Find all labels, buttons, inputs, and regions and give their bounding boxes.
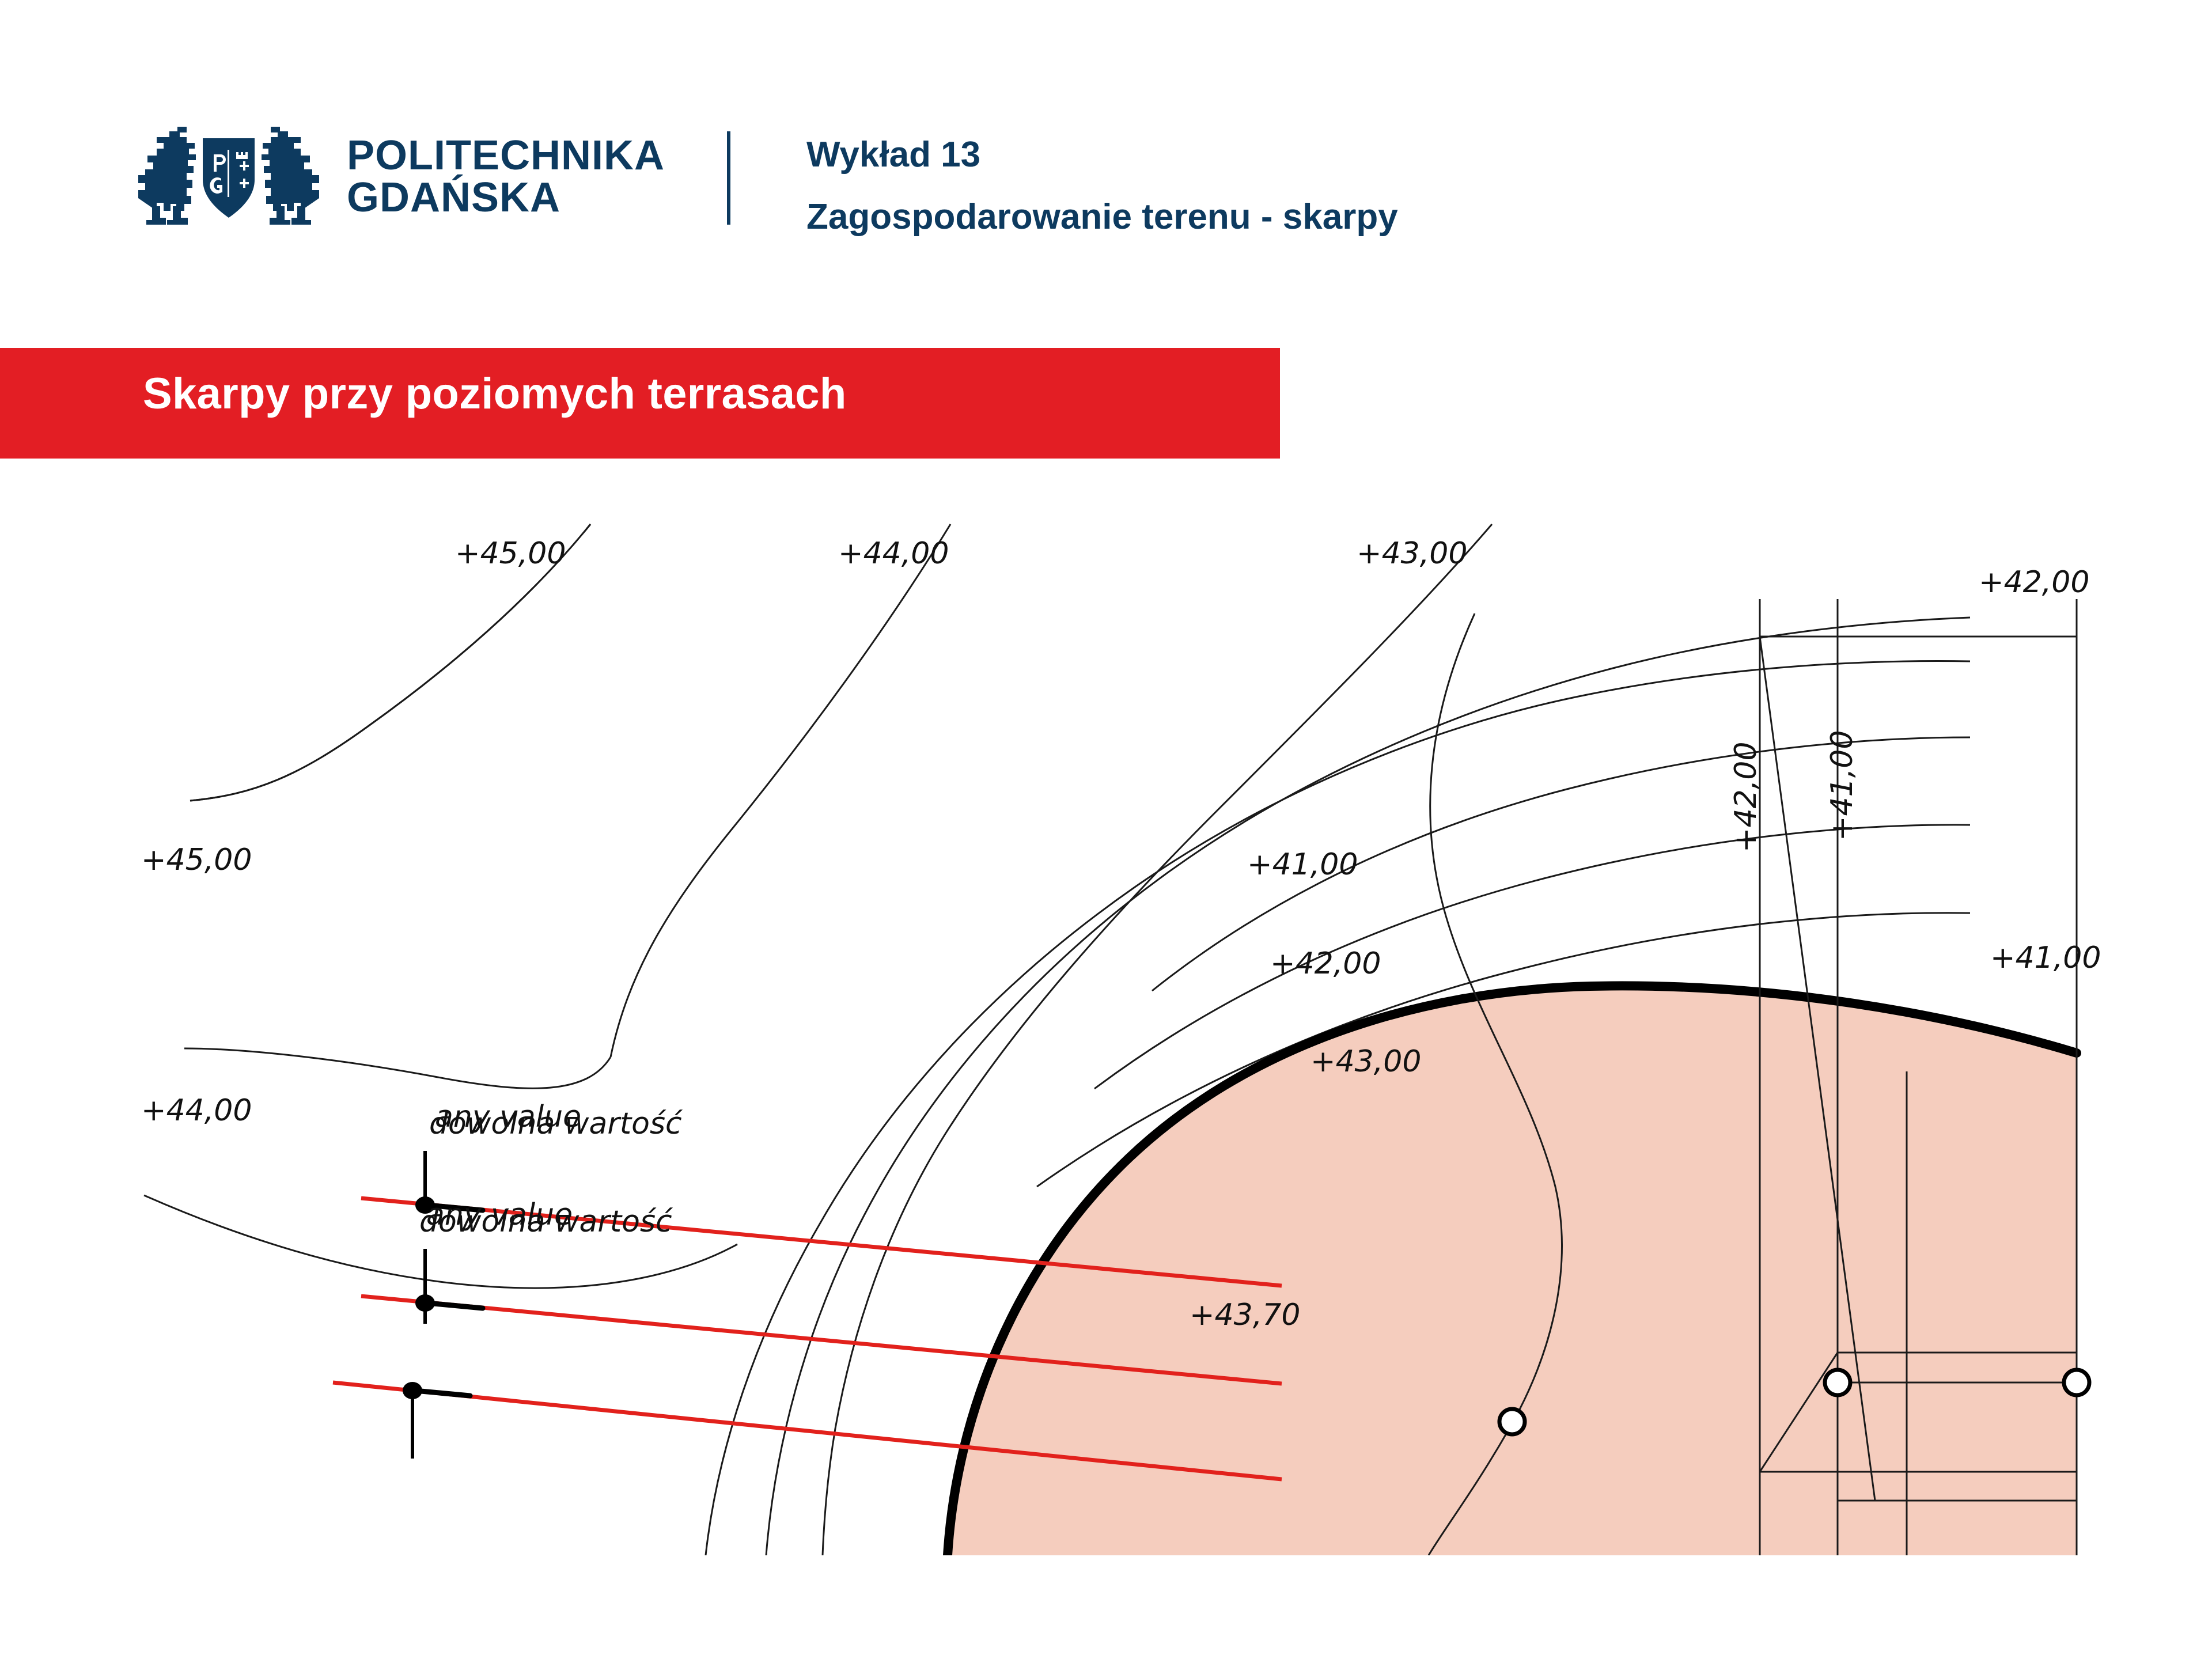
terrace-marker-tail-3 (415, 1391, 470, 1396)
university-logo: POLITECHNIKA GDAŃSKA (134, 122, 665, 232)
contour-curve-44-left (184, 1048, 611, 1088)
lecture-number: Wykład 13 (806, 137, 1398, 173)
university-wordmark: POLITECHNIKA GDAŃSKA (347, 135, 665, 219)
contour-label-43-mid: +43,00 (1310, 1044, 1421, 1079)
header-text-block: Wykład 13 Zagospodarowanie terenu - skar… (806, 137, 1398, 235)
contour-curve-44-top (611, 524, 950, 1057)
section-banner: Skarpy przy poziomych terrasach (0, 348, 1280, 459)
page-header: POLITECHNIKA GDAŃSKA Wykład 13 Zagospoda… (0, 0, 2212, 346)
contour-label-42-rotated: +42,00 (1729, 742, 1763, 853)
contour-label-4370: +43,70 (1190, 1298, 1300, 1332)
node-marker-left (1825, 1370, 1850, 1395)
contour-label-41-right: +41,00 (1990, 941, 2101, 975)
contour-label-44-top: +44,00 (838, 536, 949, 571)
node-marker-center (1499, 1409, 1525, 1434)
annotation-translated-2: any value (426, 1198, 573, 1232)
section-title: Skarpy przy poziomych terrasach (143, 369, 847, 419)
contour-label-45-top: +45,00 (455, 536, 566, 571)
terrain-slope-diagram: +45,00 +44,00 +43,00 +45,00 +41,00 +42,0… (0, 495, 2212, 1555)
contour-label-43-top: +43,00 (1357, 536, 1467, 571)
contour-label-42-right: +42,00 (1979, 565, 2089, 600)
wordmark-line-2: GDAŃSKA (347, 177, 665, 219)
terrace-point-3 (403, 1382, 422, 1399)
contour-label-45-left: +45,00 (141, 843, 252, 877)
contour-label-41-rotated: +41,00 (1825, 730, 1859, 841)
header-divider (727, 131, 730, 225)
annotation-any-value-2: dowolna wartość any value (419, 1198, 673, 1239)
terrace-marker-tail-2 (427, 1303, 483, 1308)
pg-coat-of-arms-logo (134, 122, 324, 232)
contour-label-42-mid: +42,00 (1270, 946, 1381, 981)
node-marker-right (2064, 1370, 2089, 1395)
contour-label-41-mid: +41,00 (1247, 847, 1358, 882)
annotation-translated-1: any value (435, 1100, 581, 1134)
annotation-any-value-1: dowolna wartość any value (429, 1100, 683, 1141)
terrace-point-2 (415, 1294, 435, 1312)
contour-label-44-left: +44,00 (141, 1093, 252, 1128)
lecture-title: Zagospodarowanie terenu - skarpy (806, 199, 1398, 235)
wordmark-line-1: POLITECHNIKA (347, 135, 665, 177)
slope-drawing-svg: +45,00 +44,00 +43,00 +45,00 +41,00 +42,0… (0, 495, 2212, 1555)
